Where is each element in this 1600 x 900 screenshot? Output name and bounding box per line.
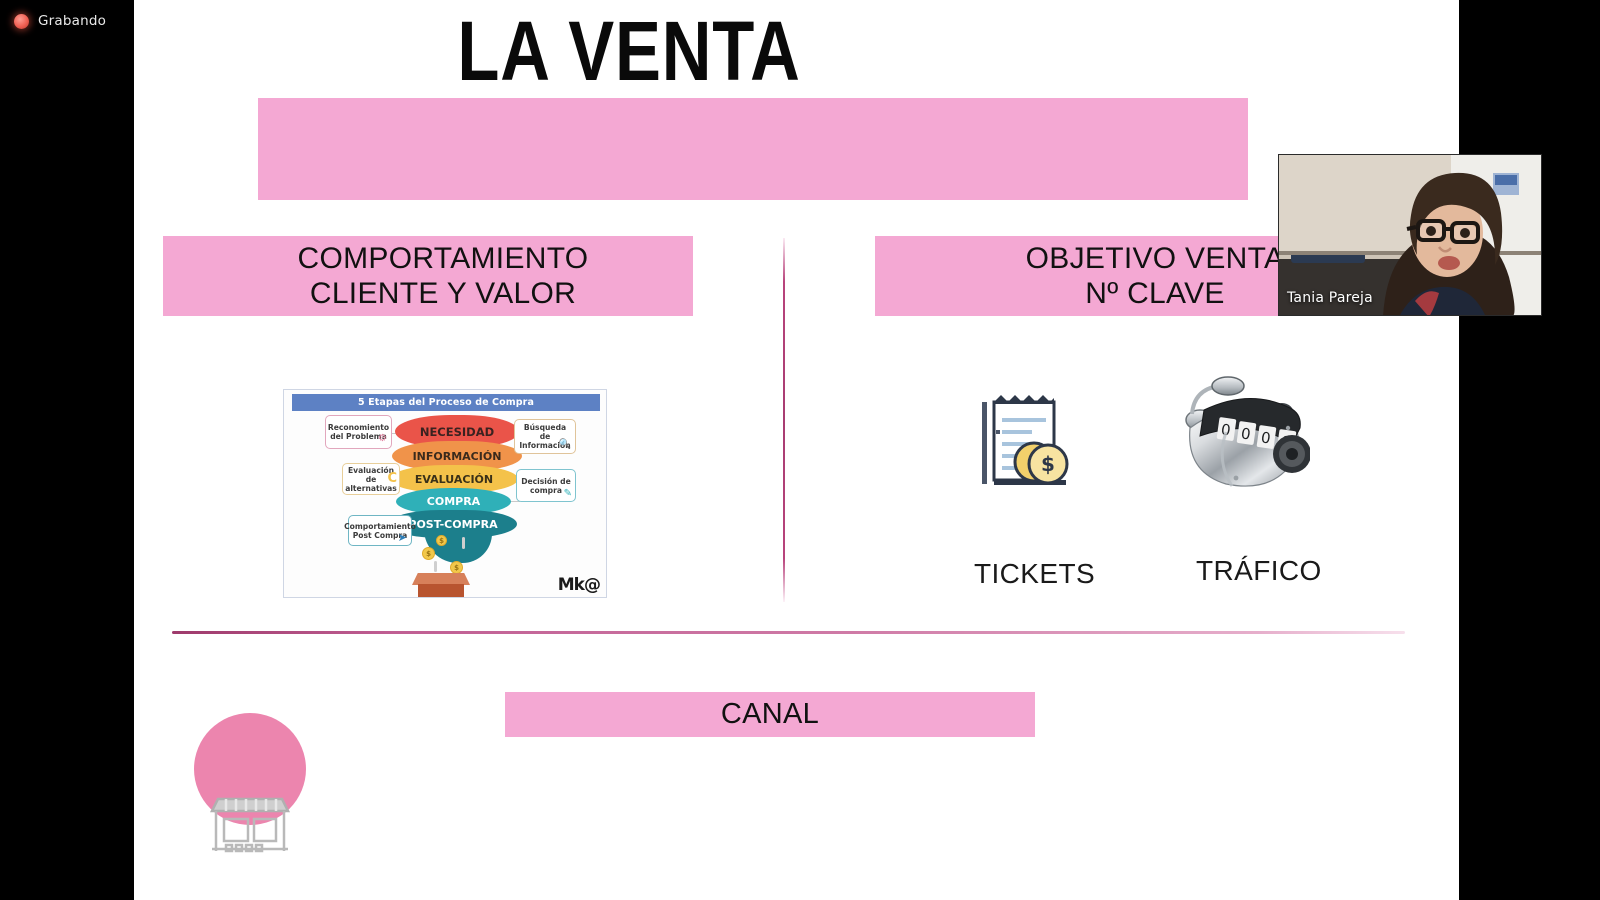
title-banner: [258, 98, 1248, 200]
callout-reconocimiento: Reconomiento del Problema ⚙: [325, 415, 392, 449]
tally-counter-icon: 0 0 0 0: [1170, 370, 1310, 494]
recording-label: Grabando: [38, 13, 106, 29]
diagram-body: NECESIDAD INFORMACIÓN EVALUACIÓN COMPRA …: [284, 411, 607, 598]
pen-icon: ✎: [564, 489, 572, 498]
mk-logo: Mk@: [558, 575, 600, 595]
recording-sidebar: Grabando: [0, 0, 134, 900]
coin-trail: [462, 537, 465, 549]
page-title: LA VENTA: [223, 0, 1035, 102]
recording-indicator: Grabando: [14, 13, 106, 29]
screen: Grabando LA VENTA COMPORTAMIENTO CLIENTE…: [0, 0, 1600, 900]
vertical-divider: [783, 238, 785, 602]
slide-canvas: LA VENTA COMPORTAMIENTO CLIENTE Y VALOR …: [134, 0, 1459, 900]
metric-label-tickets: TICKETS: [974, 558, 1095, 590]
coin-icon: $: [436, 535, 447, 546]
webcam-pip[interactable]: Tania Pareja: [1278, 154, 1542, 316]
right-header-line1: OBJETIVO VENTA: [1026, 241, 1285, 276]
purchase-process-diagram: 5 Etapas del Proceso de Compra NECESIDAD…: [283, 389, 607, 598]
open-box-body: [418, 584, 464, 598]
coin-trail: [434, 561, 437, 572]
left-header-line1: COMPORTAMIENTO: [298, 241, 589, 276]
left-column-header: COMPORTAMIENTO CLIENTE Y VALOR: [163, 236, 723, 316]
callout-evaluacion-alternativas: Evaluación de alternativas C: [342, 463, 400, 495]
arrow-icon: ➤: [398, 533, 407, 542]
metric-label-trafico: TRÁFICO: [1196, 555, 1322, 587]
callout-busqueda-informacion: Búsqueda de Información 🔍: [514, 419, 576, 454]
diagram-title: 5 Etapas del Proceso de Compra: [292, 394, 600, 411]
funnel-tail: [424, 529, 492, 563]
record-dot-icon: [14, 14, 29, 29]
right-header-line2: Nº CLAVE: [1085, 276, 1225, 311]
receipt-coins-icon: $: [976, 392, 1080, 494]
canal-label: CANAL: [505, 692, 1035, 737]
horizontal-divider: [172, 631, 1405, 634]
participant-name-label: Tania Pareja: [1287, 290, 1373, 306]
c-shape-icon: C: [387, 474, 397, 483]
svg-text:$: $: [1041, 452, 1055, 476]
left-header-line2: CLIENTE Y VALOR: [310, 276, 576, 311]
gear-icon: ⚙: [378, 434, 387, 443]
storefront-icon: [208, 783, 292, 855]
coin-icon: $: [450, 561, 463, 574]
callout-decision-compra: Decisión de compra ✎: [516, 469, 576, 502]
magnifier-icon: 🔍: [559, 440, 571, 449]
coin-icon: $: [422, 547, 435, 560]
callout-comportamiento-post-compra: Comportamiento Post Compra ➤: [348, 515, 412, 546]
